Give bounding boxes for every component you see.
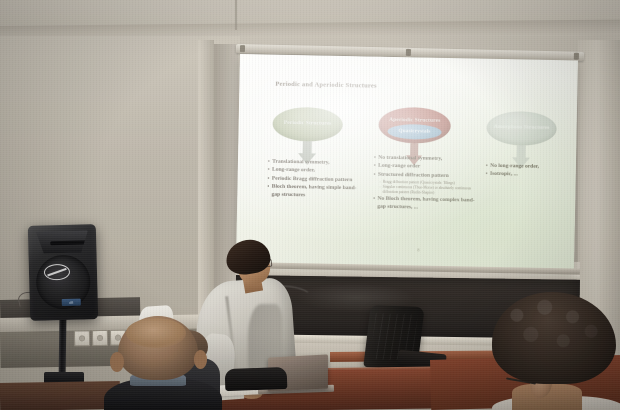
bullet-dot: ▪ bbox=[374, 163, 376, 171]
bullets-aperiodic: ▪No translational symmetry, ▪Long-range … bbox=[373, 155, 480, 214]
bullet-text: Bloch theorem, having simple band-gap st… bbox=[271, 183, 363, 201]
bullet-dot: ▪ bbox=[268, 167, 270, 175]
node-aperiodic: Aperiodic Structures Quasicrystals bbox=[378, 107, 451, 144]
audience-left-ear bbox=[110, 352, 124, 372]
bullet-dot: ▪ bbox=[486, 171, 488, 179]
left-table bbox=[0, 381, 120, 410]
speaker-brand-badge: dB bbox=[62, 299, 81, 306]
node-amorphous: Amorphous Structures bbox=[486, 111, 557, 146]
roller-cap-right bbox=[574, 53, 579, 60]
roller-cap-left bbox=[240, 45, 245, 52]
bullet-dot: ▪ bbox=[373, 195, 375, 211]
node-periodic: Periodic Structures bbox=[272, 107, 343, 142]
audience-member-foreground-right bbox=[492, 292, 620, 410]
power-outlet[interactable] bbox=[74, 330, 91, 346]
audience-left-scalp bbox=[126, 318, 186, 348]
bullet-text: No Bloch theorem, having complex band-ga… bbox=[377, 195, 479, 213]
bullet-dot: ▪ bbox=[268, 159, 270, 167]
bullet-dot: ▪ bbox=[374, 155, 376, 163]
bullets-amorphous: ▪No long-range order, ▪Isotropic, ... bbox=[486, 163, 570, 181]
foreground-chair-seat bbox=[225, 367, 288, 391]
bullet-text: Isotropic, ... bbox=[490, 171, 518, 180]
ellipse-periodic-label: Periodic Structures bbox=[284, 121, 332, 128]
outlet-socket-icon bbox=[97, 335, 103, 341]
audience-right-hair-texture bbox=[496, 296, 612, 376]
audience-member-foreground-left bbox=[104, 316, 222, 410]
bullet-dot: ▪ bbox=[268, 175, 270, 183]
speaker-stand-pole bbox=[59, 316, 67, 378]
sub-bullet-item: -Singular continuous (Thue-Morse) or abs… bbox=[379, 184, 479, 196]
speaker-horn-slit bbox=[50, 240, 90, 245]
audience-left-ear-right bbox=[194, 350, 207, 369]
bullet-dot: ▪ bbox=[374, 171, 376, 179]
roller-cap-mid bbox=[406, 49, 411, 56]
ellipse-periodic: Periodic Structures bbox=[272, 107, 343, 142]
lecture-photo-scene: Periodic and Aperiodic Structures Period… bbox=[0, 0, 620, 410]
outlet-socket-icon bbox=[79, 335, 85, 341]
speaker-brand-logo-icon bbox=[44, 264, 70, 281]
sub-bullet-dot: - bbox=[379, 184, 380, 194]
speaker-badge-text: dB bbox=[69, 300, 74, 304]
slide-page-number: 8 bbox=[417, 247, 419, 252]
ellipse-quasicrystals: Quasicrystals bbox=[387, 124, 441, 140]
sub-bullet-text: Singular continuous (Thue-Morse) or abso… bbox=[382, 185, 479, 197]
slide-title: Periodic and Aperiodic Structures bbox=[275, 81, 376, 90]
ceiling-seam bbox=[235, 0, 237, 30]
bullet-item: ▪Isotropic, ... bbox=[486, 171, 570, 181]
bullet-dot: ▪ bbox=[267, 183, 269, 199]
ellipse-amorphous-label: Amorphous Structures bbox=[494, 125, 550, 132]
bullet-dot: ▪ bbox=[486, 163, 488, 171]
bullets-periodic: ▪Translational symmetry, ▪Long-range ord… bbox=[267, 159, 364, 202]
bullet-item: ▪Bloch theorem, having simple band-gap s… bbox=[267, 183, 363, 201]
ellipse-aperiodic: Aperiodic Structures Quasicrystals bbox=[378, 107, 451, 144]
pa-loudspeaker: dB bbox=[28, 224, 98, 321]
ellipse-amorphous: Amorphous Structures bbox=[486, 111, 557, 146]
bullet-item: ▪No Bloch theorem, having complex band-g… bbox=[373, 195, 479, 213]
ellipse-quasicrystals-label: Quasicrystals bbox=[399, 129, 431, 135]
speaker-horn bbox=[36, 230, 89, 253]
